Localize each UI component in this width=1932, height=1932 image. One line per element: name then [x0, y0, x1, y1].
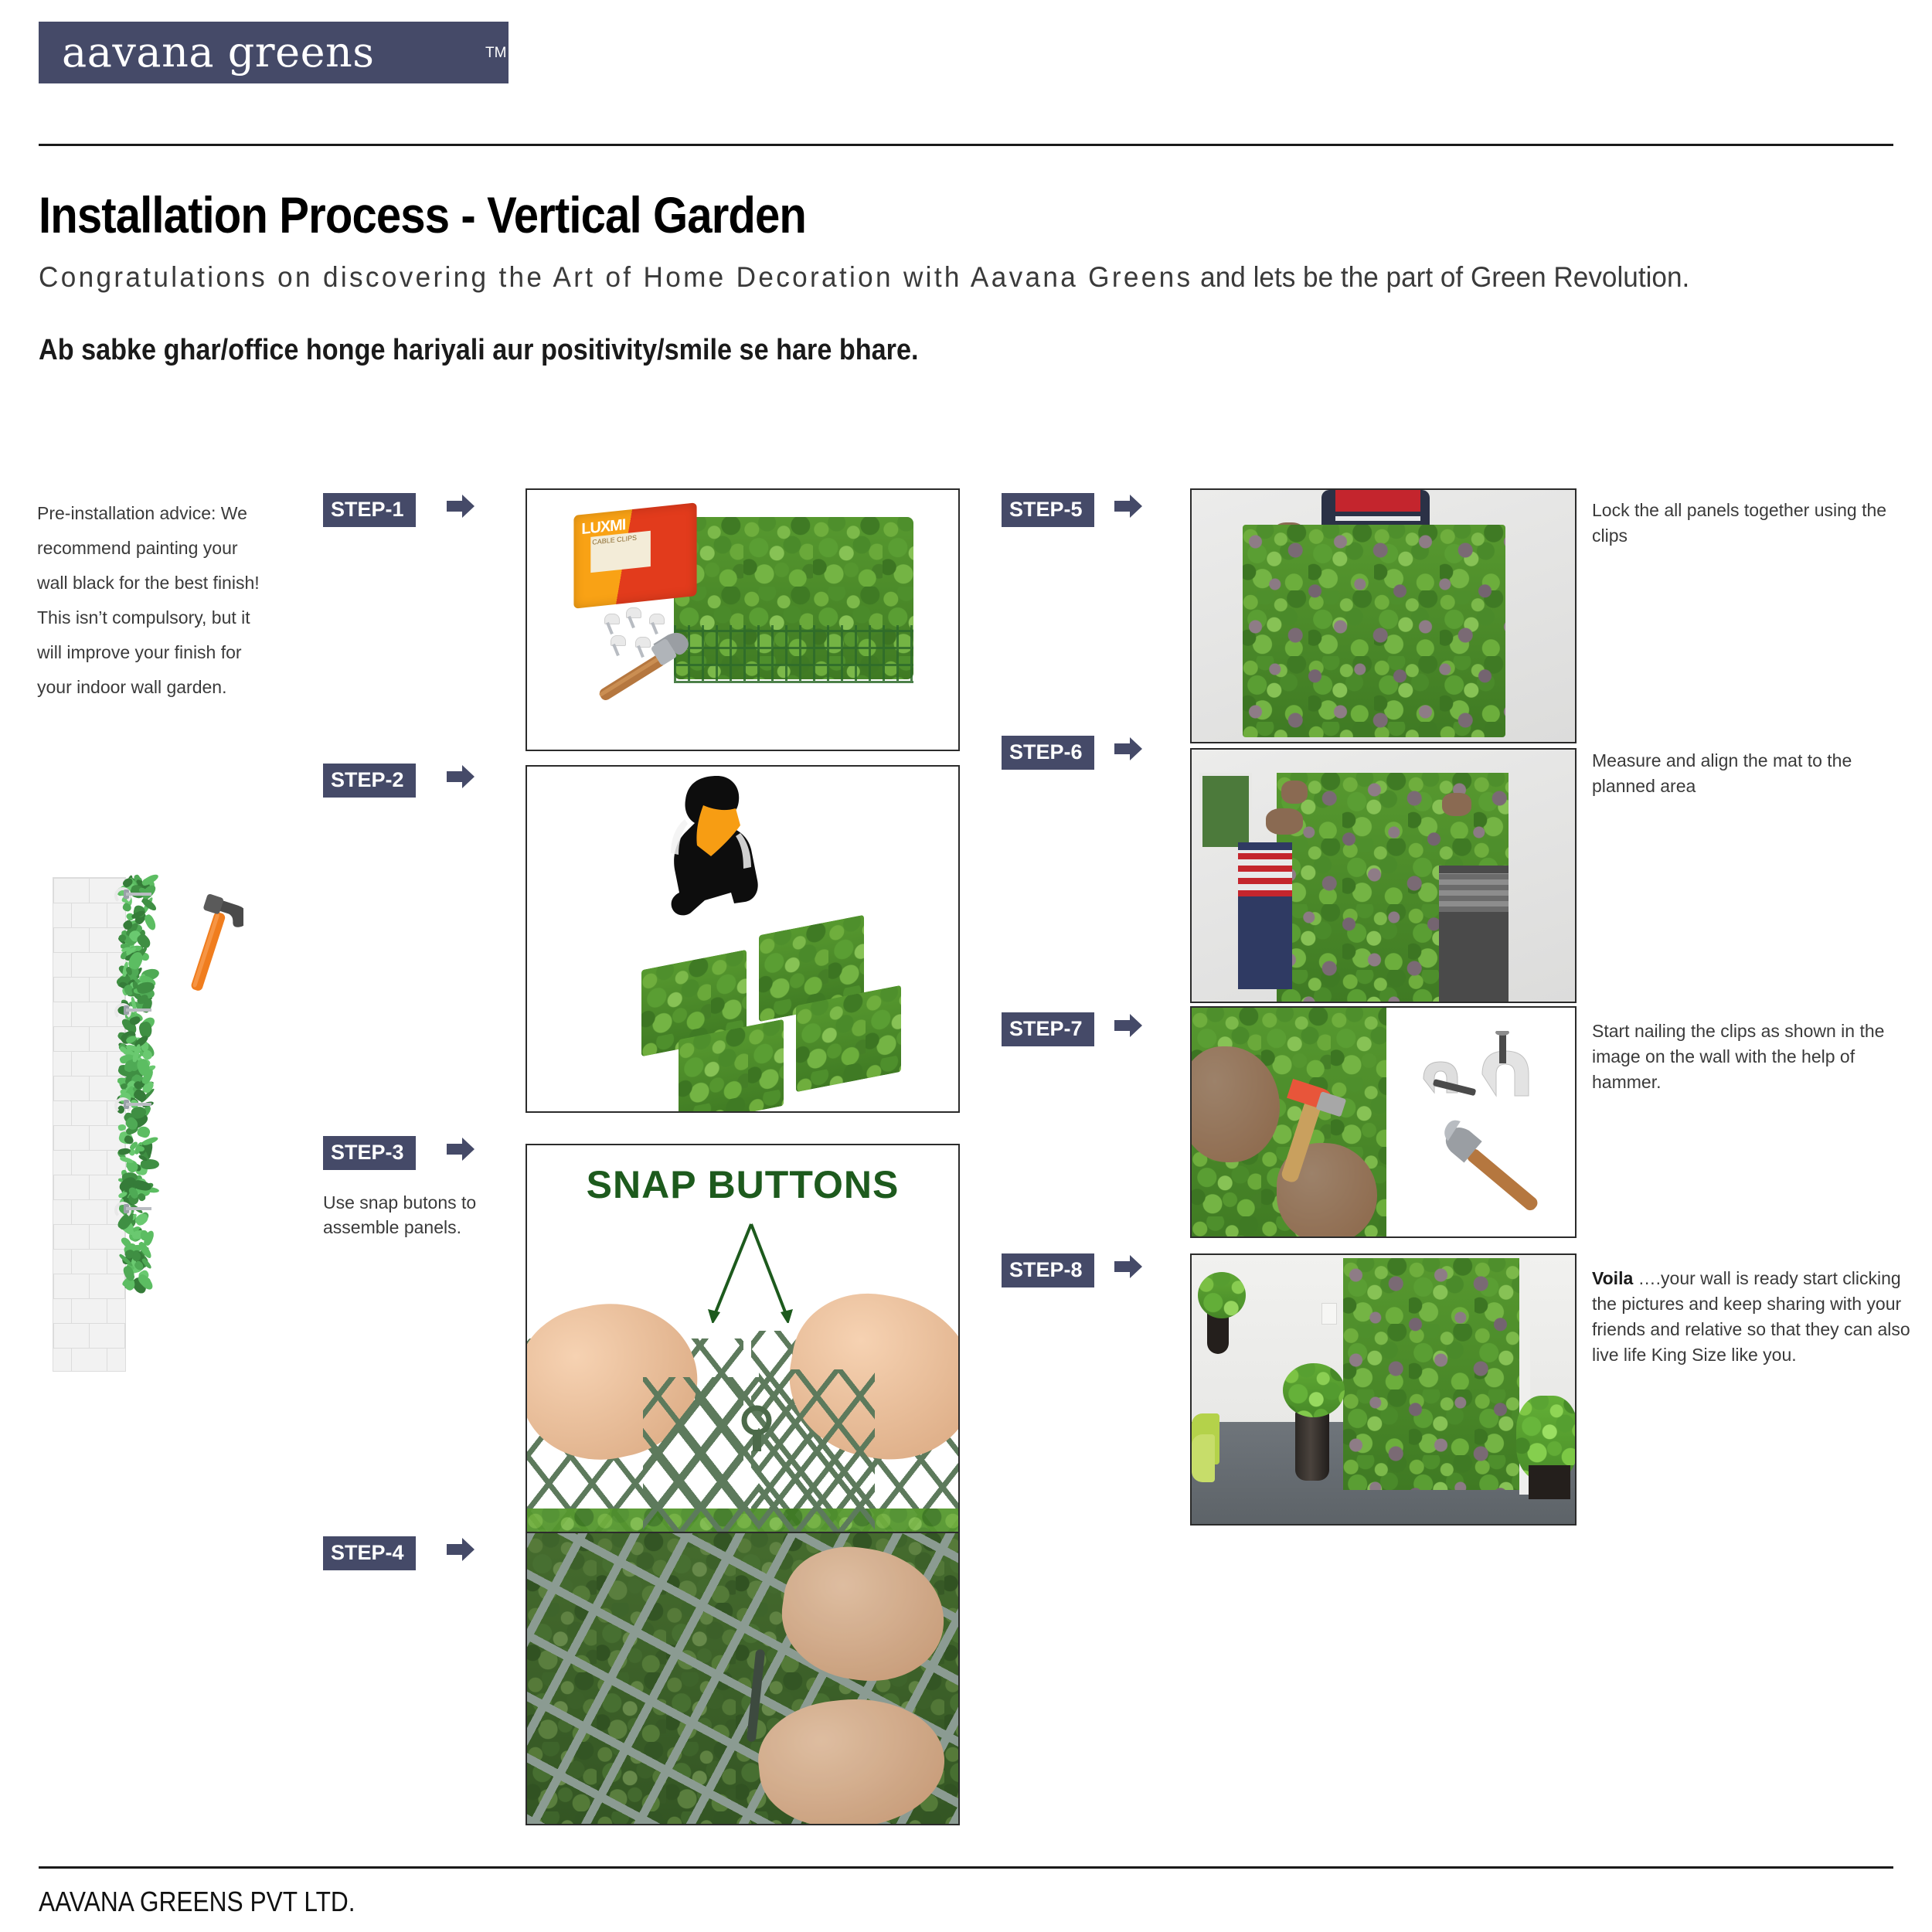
brand-logo: aavana greens TM	[39, 22, 509, 83]
worker-right-hand	[1442, 793, 1471, 816]
brick-mortar-line	[53, 1274, 126, 1274]
brick-mortar-line	[89, 878, 90, 903]
brick-mortar-line	[53, 977, 126, 978]
brick-mortar-line	[89, 977, 90, 1002]
right-arrow-icon	[1114, 493, 1144, 519]
step-2-image	[526, 765, 960, 1113]
worker-left-hand	[1266, 808, 1303, 835]
brick-mortar-line	[53, 1125, 54, 1150]
brick-mortar-line	[53, 1175, 126, 1175]
hammer-icon	[580, 625, 703, 718]
step-8-caption: Voila ….your wall is ready start clickin…	[1592, 1266, 1917, 1368]
snap-buttons-overlay-title: SNAP BUTTONS	[527, 1162, 958, 1207]
right-arrow-icon	[1114, 1253, 1144, 1280]
brick-mortar-line	[107, 1100, 107, 1125]
wall-switch	[1321, 1303, 1337, 1325]
assembled-green-panel	[1243, 525, 1505, 737]
brick-mortar-line	[89, 1026, 90, 1051]
footer-divider	[39, 1866, 1893, 1869]
brick-mortar-line	[53, 927, 126, 928]
brick-mortar-line	[107, 903, 107, 927]
brick-mortar-line	[107, 1298, 107, 1323]
brick-mortar-line	[53, 1323, 126, 1324]
brick-mortar-line	[53, 1026, 54, 1051]
header-divider	[39, 144, 1893, 146]
brick-mortar-line	[53, 1076, 126, 1077]
office-chair-second	[1192, 1434, 1215, 1482]
step-4-image	[526, 1532, 960, 1825]
package-spec-label: CABLE CLIPS	[590, 531, 651, 573]
brick-mortar-line	[53, 1348, 126, 1349]
trademark-symbol: TM	[485, 45, 506, 62]
page-subtitle: Congratulations on discovering the Art o…	[39, 261, 1689, 294]
installation-process-page: aavana greens TM Installation Process - …	[0, 0, 1932, 1932]
right-arrow-icon	[447, 1136, 476, 1162]
brick-mortar-line	[71, 1348, 72, 1372]
step-6-image	[1190, 748, 1577, 1003]
subtitle-segment-2: and lets be the part of Green Revolution…	[1192, 261, 1689, 293]
page-title: Installation Process - Vertical Garden	[39, 185, 806, 244]
brick-mortar-line	[107, 1150, 107, 1175]
wall-clip-icon	[114, 887, 151, 904]
step-5-caption: Lock the all panels together using the c…	[1592, 498, 1917, 549]
step-8-image	[1190, 1253, 1577, 1526]
hammer-icon	[1423, 1116, 1563, 1232]
corner-planter-pot	[1529, 1465, 1570, 1499]
brick-mortar-line	[53, 1224, 126, 1225]
brick-mortar-line	[53, 927, 54, 952]
step-badge-2: STEP-2	[323, 764, 416, 798]
brick-mortar-line	[71, 1150, 72, 1175]
foliage-leaf	[141, 1230, 149, 1240]
brick-mortar-line	[53, 1051, 126, 1052]
brick-mortar-line	[89, 1224, 90, 1249]
brick-mortar-line	[53, 1175, 54, 1199]
hammer-icon	[182, 890, 243, 998]
right-arrow-icon	[447, 493, 476, 519]
annotation-arrows-icon	[705, 1223, 798, 1323]
right-arrow-icon	[447, 1536, 476, 1563]
brick-mortar-line	[124, 1323, 125, 1348]
right-arrow-icon	[1114, 736, 1144, 762]
brick-mortar-line	[71, 903, 72, 927]
footer-company-name: AAVANA GREENS PVT LTD.	[39, 1886, 355, 1918]
brick-mortar-line	[53, 1125, 126, 1126]
brick-mortar-line	[89, 1274, 90, 1298]
subtitle-segment-1: Congratulations on discovering the Art o…	[39, 261, 1192, 293]
wall-clip-icon	[114, 1003, 151, 1020]
step-7-image	[1190, 1006, 1577, 1238]
brick-mortar-line	[71, 952, 72, 977]
brick-mortar-line	[107, 1002, 107, 1026]
step-badge-6: STEP-6	[1002, 736, 1094, 770]
snap-button-icon	[730, 1400, 784, 1454]
finished-green-wall	[1343, 1258, 1521, 1490]
brick-mortar-line	[107, 1051, 107, 1076]
right-arrow-icon	[447, 764, 476, 790]
brick-mortar-line	[107, 1249, 107, 1274]
step-1-image: LUXMI CABLE CLIPS	[526, 488, 960, 751]
brick-mortar-line	[53, 977, 54, 1002]
step-badge-4: STEP-4	[323, 1536, 416, 1570]
brick-mortar-line	[71, 1002, 72, 1026]
brick-mortar-line	[71, 1199, 72, 1224]
pre-installation-advice: Pre-installation advice: We recommend pa…	[37, 496, 269, 705]
brick-mortar-line	[53, 1298, 126, 1299]
wall-clip-icon	[114, 1097, 151, 1114]
panel-grid-backing	[674, 625, 913, 683]
brick-mortar-line	[53, 1224, 54, 1249]
brand-logo-text: aavana greens	[39, 32, 375, 73]
step-6-caption: Measure and align the mat to the planned…	[1592, 748, 1917, 799]
brick-wall-illustration	[53, 877, 126, 1372]
worker-left-hand-upper	[1281, 781, 1308, 804]
step-badge-7: STEP-7	[1002, 1012, 1094, 1046]
step-5-image	[1190, 488, 1577, 743]
brick-mortar-line	[89, 1125, 90, 1150]
brick-mortar-line	[53, 878, 54, 903]
brick-mortar-line	[53, 1150, 126, 1151]
foliage-strip-illustration	[118, 876, 148, 1285]
step-8-caption-rest: ….your wall is ready start clicking the …	[1592, 1268, 1910, 1365]
brick-mortar-line	[53, 1076, 54, 1100]
step-badge-3: STEP-3	[323, 1136, 416, 1170]
right-arrow-icon	[1114, 1012, 1144, 1039]
step-badge-8: STEP-8	[1002, 1253, 1094, 1287]
person-shirt-red	[1335, 490, 1420, 513]
hammer-icon	[1236, 1054, 1376, 1193]
brick-mortar-line	[71, 1298, 72, 1323]
brick-mortar-line	[71, 1100, 72, 1125]
page-subtitle-hindi: Ab sabke ghar/office honge hariyali aur …	[39, 334, 918, 367]
clip-with-nail-icon	[1416, 1031, 1547, 1116]
worker-right-shirt	[1439, 873, 1509, 912]
step-7-caption: Start nailing the clips as shown in the …	[1592, 1019, 1917, 1095]
brick-mortar-line	[53, 1323, 54, 1348]
brick-mortar-line	[53, 952, 126, 953]
brick-mortar-line	[53, 1199, 126, 1200]
wall-clip-icon	[114, 1202, 151, 1219]
floor-plant-foliage	[1283, 1363, 1345, 1417]
step-3-caption: Use snap butons to assemble panels.	[323, 1190, 524, 1240]
wall-planter-foliage	[1198, 1272, 1246, 1318]
brick-mortar-line	[89, 927, 90, 952]
worker-silhouette-icon	[643, 773, 782, 966]
step-badge-1: STEP-1	[323, 493, 416, 527]
brick-mortar-line	[89, 1323, 90, 1348]
brick-mortar-line	[53, 878, 126, 879]
brick-mortar-line	[107, 1348, 107, 1372]
wall-cross-section-diagram	[46, 873, 240, 1383]
step-8-caption-bold: Voila	[1592, 1268, 1633, 1288]
brick-mortar-line	[89, 1175, 90, 1199]
brick-mortar-line	[89, 1076, 90, 1100]
floor-planter-pot	[1295, 1410, 1329, 1481]
brick-mortar-line	[107, 1199, 107, 1224]
worker-left-shirt	[1238, 850, 1292, 896]
clip-package-illustration: LUXMI CABLE CLIPS	[573, 502, 696, 608]
brick-mortar-line	[71, 1249, 72, 1274]
brick-mortar-line	[53, 1002, 126, 1002]
brick-mortar-line	[107, 952, 107, 977]
step-badge-5: STEP-5	[1002, 493, 1094, 527]
brick-mortar-line	[71, 1051, 72, 1076]
foliage-leaf	[142, 913, 157, 932]
brick-mortar-line	[53, 1249, 126, 1250]
brick-mortar-line	[53, 1274, 54, 1298]
brick-mortar-line	[53, 1026, 126, 1027]
right-panel-edge	[759, 1369, 875, 1547]
framed-wall-art	[1199, 773, 1252, 850]
cable-clip-icon	[626, 607, 646, 624]
